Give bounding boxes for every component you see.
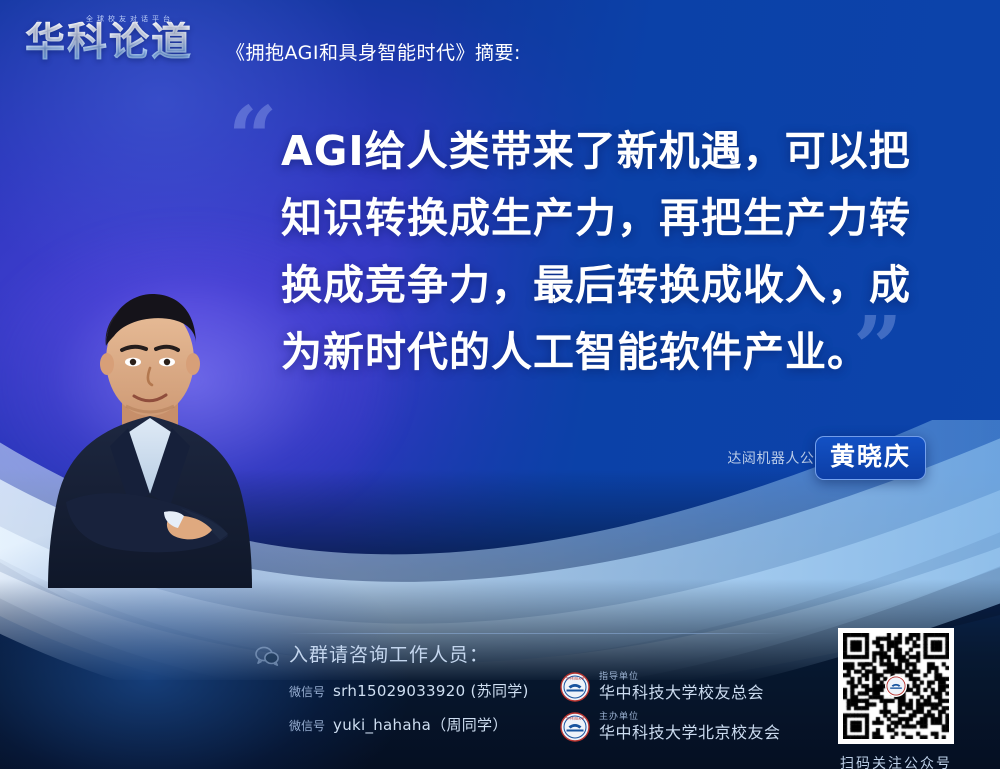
organizer-name: 华中科技大学北京校友会 bbox=[599, 724, 781, 742]
organizer-list: 华中科技大学 指导单位 华中科技大学校友总会 华中科技大学 主办单位 bbox=[560, 670, 781, 750]
logo-wordmark: 华科论道 bbox=[25, 22, 221, 62]
contact-value: srh15029033920 (苏同学) bbox=[333, 680, 529, 701]
quote-line-3: 换成竞争力，最后转换成收入，成 bbox=[281, 252, 941, 319]
organizer-row: 华中科技大学 主办单位 华中科技大学北京校友会 bbox=[560, 710, 781, 744]
brand-logo[interactable]: 全球校友对话平台 华科论道 bbox=[25, 12, 221, 74]
hust-seal-icon: 华中科技大学 bbox=[560, 712, 590, 742]
contact-title: 入群请咨询工作人员： bbox=[289, 640, 489, 667]
speaker-portrait bbox=[14, 288, 286, 588]
contact-row: 微信号 srh15029033920 (苏同学) bbox=[289, 680, 529, 701]
quote-open-mark: “ bbox=[228, 96, 277, 182]
hust-seal-icon: 华中科技大学 bbox=[560, 672, 590, 702]
contact-row: 微信号 yuki_hahaha（周同学） bbox=[289, 714, 508, 735]
speaker-name-badge: 黄晓庆 bbox=[815, 436, 926, 480]
poster-root: 全球校友对话平台 华科论道 《拥抱AGI和具身智能时代》摘要: bbox=[0, 0, 1000, 769]
contact-label: 微信号 bbox=[289, 717, 325, 734]
page-title: 《拥抱AGI和具身智能时代》摘要: bbox=[226, 38, 521, 65]
organizer-name: 华中科技大学校友总会 bbox=[599, 684, 764, 702]
quote-line-4: 为新时代的人工智能软件产业。 bbox=[281, 319, 941, 386]
contact-value: yuki_hahaha（周同学） bbox=[333, 714, 508, 735]
svg-text:华中科技大学: 华中科技大学 bbox=[566, 716, 585, 721]
quote-text: AGI给人类带来了新机遇，可以把 知识转换成生产力，再把生产力转 换成竞争力，最… bbox=[281, 118, 941, 386]
header: 全球校友对话平台 华科论道 《拥抱AGI和具身智能时代》摘要: bbox=[0, 0, 1000, 92]
organizer-row: 华中科技大学 指导单位 华中科技大学校友总会 bbox=[560, 670, 781, 704]
attribution: 达闼机器人公司董事长兼CEO 黄晓庆 bbox=[727, 448, 918, 468]
contact-label: 微信号 bbox=[289, 683, 325, 700]
quote-line-2: 知识转换成生产力，再把生产力转 bbox=[281, 185, 941, 252]
qr-section: 扫码关注公众号 bbox=[838, 628, 954, 769]
qr-code[interactable] bbox=[838, 628, 954, 744]
wechat-icon bbox=[255, 646, 279, 666]
organizer-kicker: 主办单位 bbox=[599, 712, 781, 723]
organizer-text: 主办单位 华中科技大学北京校友会 bbox=[599, 712, 781, 742]
footer-divider bbox=[286, 633, 786, 634]
qr-caption: 扫码关注公众号 bbox=[838, 753, 954, 769]
organizer-text: 指导单位 华中科技大学校友总会 bbox=[599, 672, 764, 702]
qr-center-logo-icon bbox=[885, 675, 907, 697]
organizer-kicker: 指导单位 bbox=[599, 672, 764, 683]
svg-text:华中科技大学: 华中科技大学 bbox=[566, 676, 585, 681]
quote-line-1: AGI给人类带来了新机遇，可以把 bbox=[281, 118, 941, 185]
